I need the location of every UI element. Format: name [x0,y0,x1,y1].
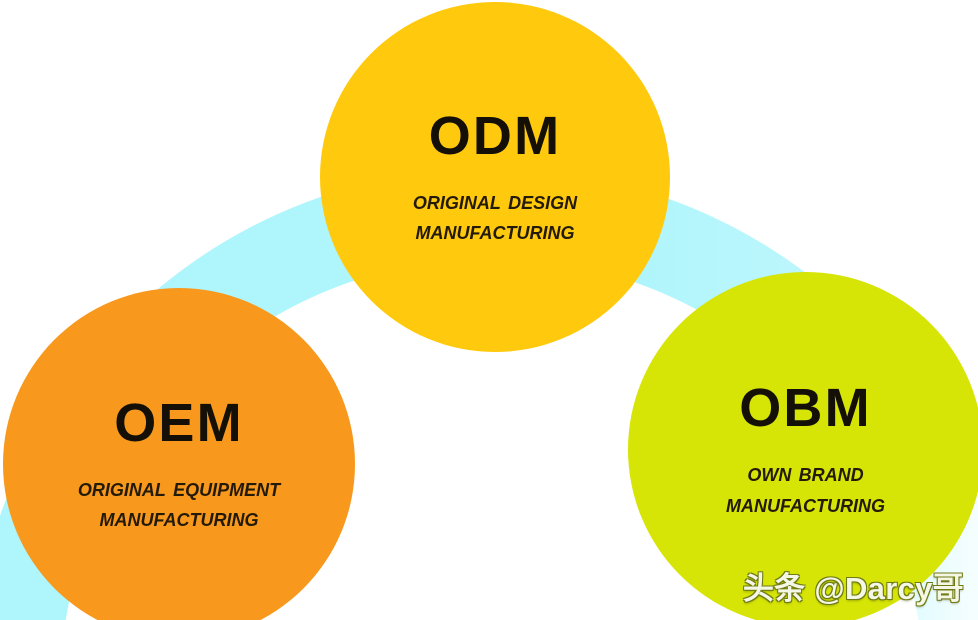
node-obm[interactable]: OBM Own Brand Manufacturing [628,272,978,620]
node-odm-subtitle-line1: Original Design [413,185,577,215]
node-oem-subtitle-line1: Original Equipment [78,472,280,502]
node-oem[interactable]: OEM Original Equipment Manufacturing [3,288,355,620]
diagram-canvas: ODM Original Design Manufacturing OEM Or… [0,0,978,620]
node-odm-subtitle-line2: Manufacturing [416,215,575,245]
node-obm-subtitle-line1: Own Brand [747,457,863,487]
node-obm-subtitle-line2: Manufacturing [726,488,885,518]
node-obm-title: OBM [739,381,871,435]
node-oem-title: OEM [114,396,243,450]
node-oem-subtitle-line2: Manufacturing [100,502,259,532]
node-odm[interactable]: ODM Original Design Manufacturing [320,2,670,352]
node-odm-title: ODM [429,109,561,163]
